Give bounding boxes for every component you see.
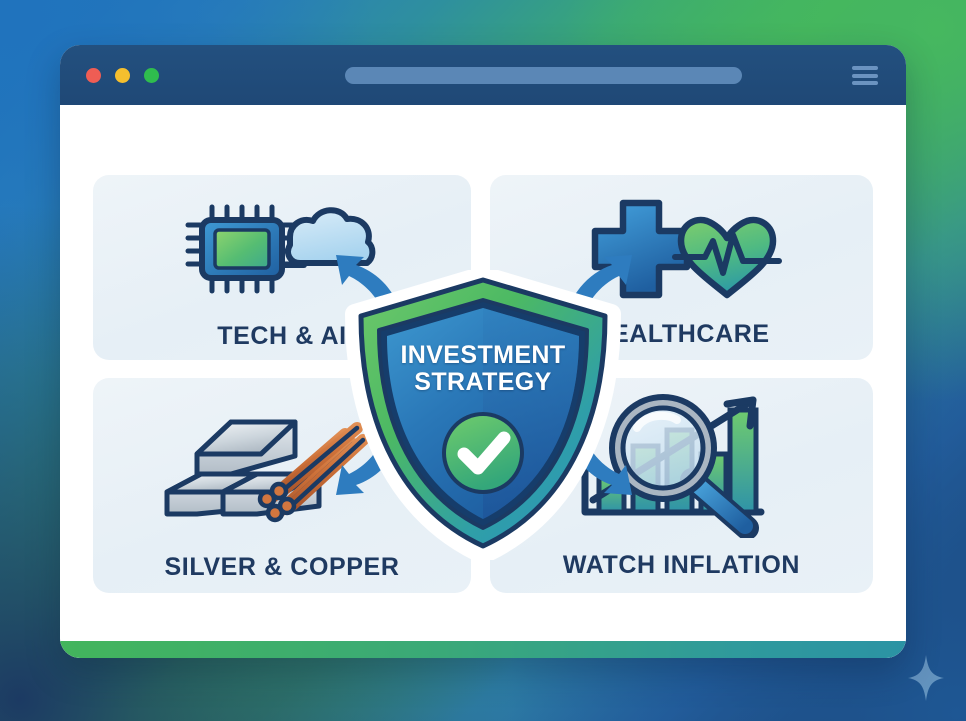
medical-cross-icon [595,203,687,295]
quadrant-watch-inflation[interactable]: WATCH INFLATION [490,378,873,593]
hamburger-line-2 [852,74,878,78]
quadrant-healthcare[interactable]: HEALTHCARE [490,175,873,360]
window-footer-bar [60,641,906,658]
healthcare-icon-group [577,191,787,308]
maximize-button[interactable] [144,68,159,83]
quadrant-silver-copper[interactable]: SILVER & COPPER [93,378,471,593]
browser-content: TECH & AI [60,105,906,658]
address-bar[interactable] [345,67,742,84]
browser-titlebar [60,45,906,105]
tech-ai-icon-group [182,195,382,308]
hamburger-icon[interactable] [852,66,878,85]
traffic-lights [86,68,159,83]
quadrant-label-healthcare: HEALTHCARE [593,320,769,349]
hamburger-line-1 [852,66,878,70]
browser-window: TECH & AI [60,45,906,658]
hamburger-line-3 [852,81,878,85]
quadrant-label-silver-copper: SILVER & COPPER [165,553,400,582]
close-button[interactable] [86,68,101,83]
sparkle-icon [908,655,944,701]
cloud-icon [288,210,372,263]
quadrant-label-watch-inflation: WATCH INFLATION [563,551,800,580]
minimize-button[interactable] [115,68,130,83]
quadrant-tech-ai[interactable]: TECH & AI [93,175,471,360]
cpu-core [215,230,269,268]
quadrant-label-tech-ai: TECH & AI [217,322,346,351]
watch-inflation-icon-group [567,388,797,543]
silver-copper-icon-group [157,396,407,539]
